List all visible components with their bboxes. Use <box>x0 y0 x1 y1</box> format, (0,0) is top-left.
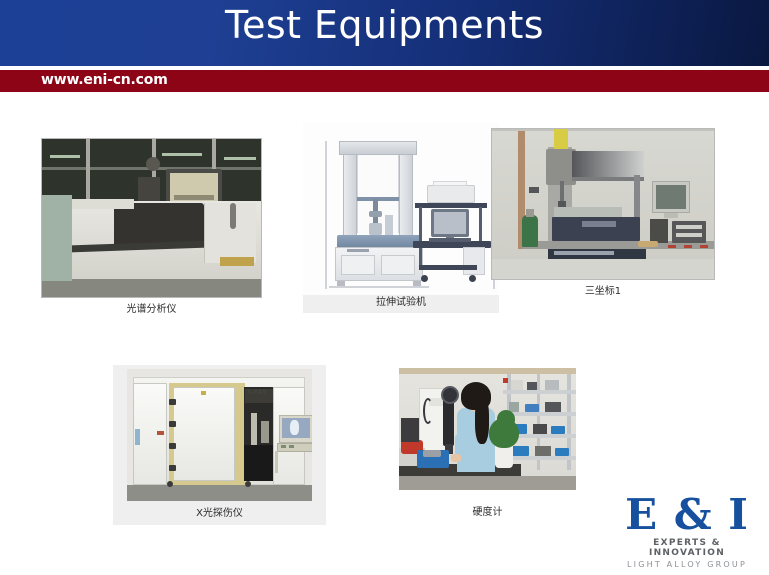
equipment-photo-cmm <box>491 128 715 280</box>
photo-scene: X-RAY <box>127 369 312 501</box>
photo-scene <box>42 139 261 297</box>
equipment-item-hardness: 硬度计 <box>399 368 576 519</box>
equipment-item-cmm: 三坐标1 <box>491 128 715 298</box>
equipment-caption-hardness: 硬度计 <box>399 506 576 519</box>
equipment-caption-tensile: 拉伸试验机 <box>303 296 499 309</box>
logo-tagline-secondary: LIGHT ALLOY GROUP <box>617 560 757 569</box>
equipment-caption-xray: X光探伤仪 <box>113 507 326 520</box>
company-logo: E & I EXPERTS & INNOVATION LIGHT ALLOY G… <box>617 494 757 569</box>
photo-scene <box>303 123 499 295</box>
photo-scene <box>492 129 714 279</box>
website-url: www.eni-cn.com <box>41 72 168 88</box>
equipment-photo-xray: X-RAY <box>127 369 312 501</box>
equipment-caption-cmm: 三坐标1 <box>491 285 715 298</box>
equipment-caption-spectrometer: 光谱分析仪 <box>41 303 262 316</box>
photo-scene <box>399 368 576 490</box>
equipment-item-spectrometer: 光谱分析仪 <box>41 138 262 316</box>
page-title: Test Equipments <box>0 3 769 47</box>
equipment-photo-hardness <box>399 368 576 490</box>
logo-tagline-primary: EXPERTS & INNOVATION <box>617 538 757 558</box>
logo-mark: E & I <box>617 494 757 536</box>
equipment-photo-tensile <box>303 123 499 295</box>
equipment-photo-spectrometer <box>41 138 262 298</box>
equipment-item-xray: X-RAY X光探伤仪 <box>113 365 326 525</box>
header-banner: Test Equipments <box>0 0 769 66</box>
url-bar: www.eni-cn.com <box>0 70 769 92</box>
equipment-item-tensile: 拉伸试验机 <box>303 123 499 313</box>
